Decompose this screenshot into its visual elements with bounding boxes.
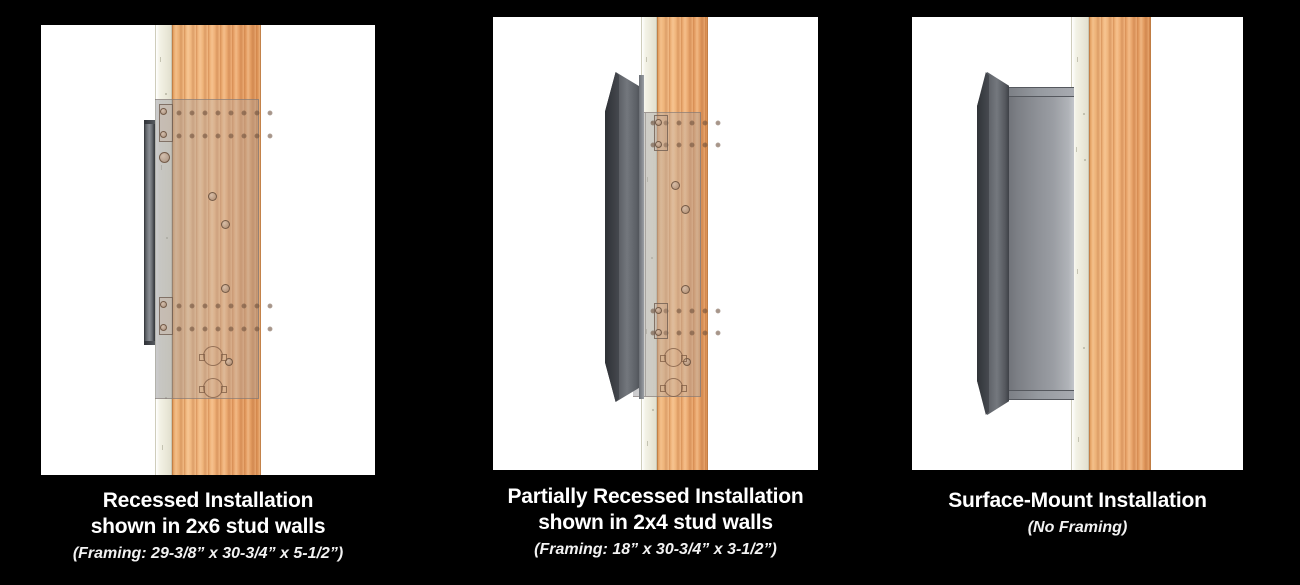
caption-partially-recessed-line2: shown in 2x4 stud walls <box>493 510 818 536</box>
recessed-enclosure <box>155 99 259 399</box>
recessed-installation-image <box>41 25 375 475</box>
caption-recessed-framing: (Framing: 29-3/8” x 30-3/4” x 5-1/2”) <box>41 543 375 565</box>
cable-knockout-upper <box>203 346 223 366</box>
diagram-stage: Recessed Installation shown in 2x6 stud … <box>0 0 1300 585</box>
chassis-top-edge <box>1004 87 1074 97</box>
wood-stud <box>1089 17 1151 470</box>
display-bezel-highlight <box>977 72 989 415</box>
cable-knockout-lower <box>664 378 683 397</box>
cable-knockout-lower <box>203 378 223 398</box>
surface-mount-installation-image <box>912 17 1243 470</box>
panel-partially-recessed <box>493 17 818 470</box>
panel-recessed <box>41 25 375 475</box>
caption-surface-mount: Surface-Mount Installation (No Framing) <box>912 488 1243 539</box>
chassis-bottom-edge <box>1004 390 1074 400</box>
partially-recessed-installation-image <box>493 17 818 470</box>
caption-recessed-line1: Recessed Installation <box>41 488 375 514</box>
display-front-bezel <box>605 72 619 402</box>
display-return-edge <box>639 75 644 399</box>
caption-partially-recessed-framing: (Framing: 18” x 30-3/4” x 3-1/2”) <box>493 539 818 561</box>
caption-surface-mount-framing: (No Framing) <box>912 517 1243 539</box>
caption-recessed: Recessed Installation shown in 2x6 stud … <box>41 488 375 565</box>
caption-surface-mount-line1: Surface-Mount Installation <box>912 488 1243 514</box>
caption-partially-recessed-line1: Partially Recessed Installation <box>493 484 818 510</box>
cable-knockout-upper <box>664 348 683 367</box>
panel-surface-mount <box>912 17 1243 470</box>
display-chassis <box>1004 87 1074 400</box>
display-panel-flush <box>144 120 155 345</box>
caption-partially-recessed: Partially Recessed Installation shown in… <box>493 484 818 561</box>
caption-recessed-line2: shown in 2x6 stud walls <box>41 514 375 540</box>
